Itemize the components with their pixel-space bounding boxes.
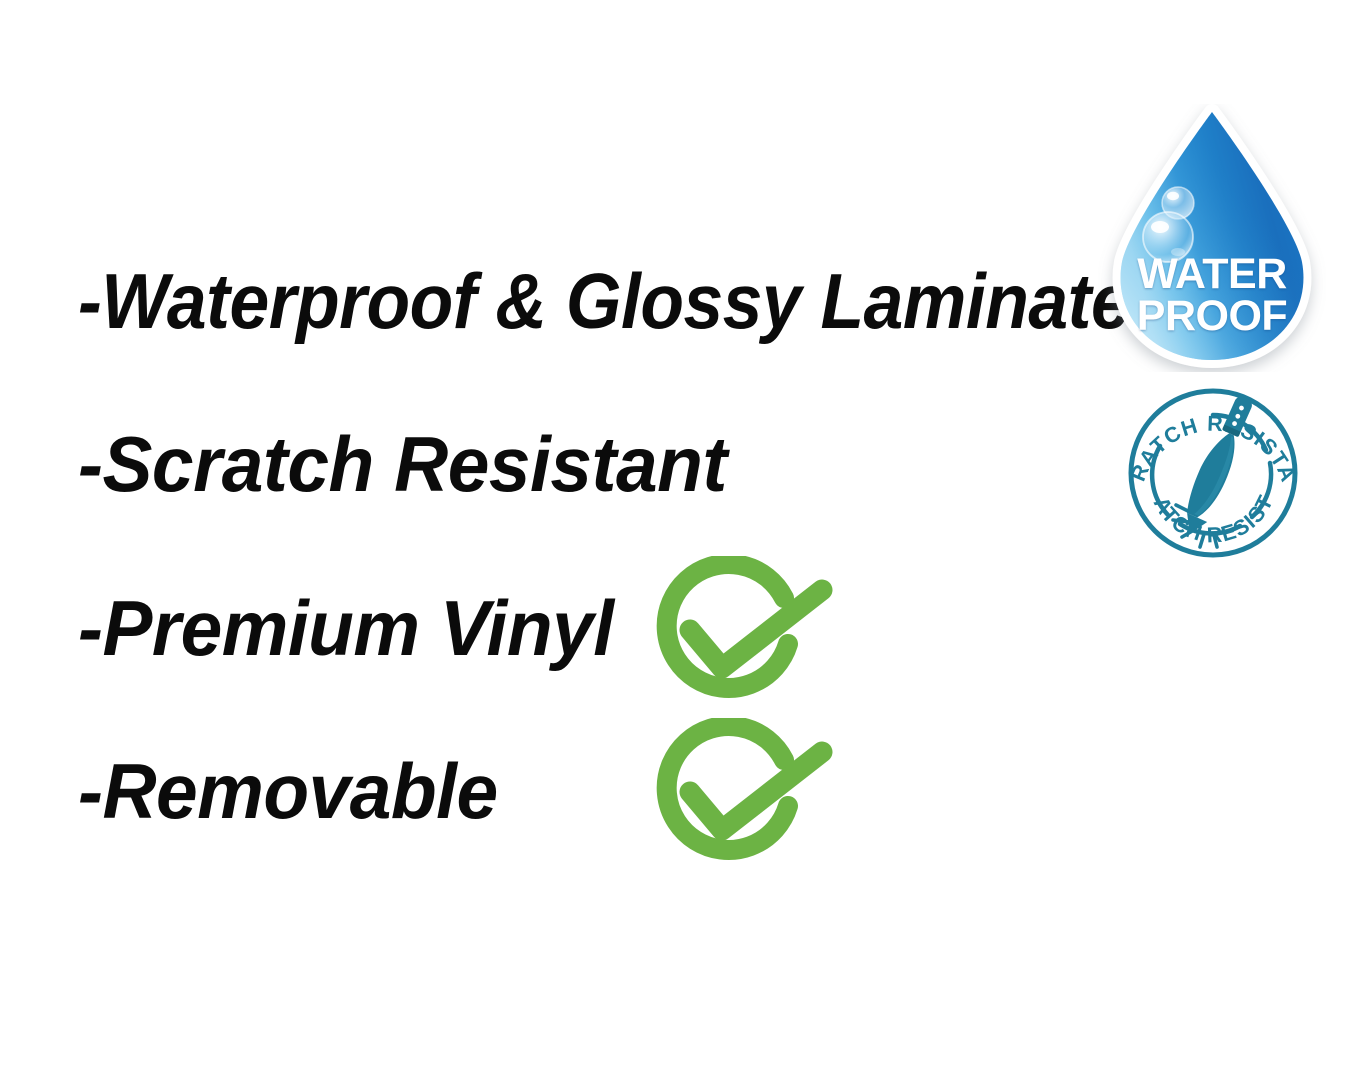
checkmark-premium-vinyl [636,556,836,708]
scratch-resistant-badge: SCRATCH RESISTANT SCRATCH RESISTANT [1118,384,1308,562]
knife-stamp-icon: SCRATCH RESISTANT SCRATCH RESISTANT [1118,384,1308,562]
circle-check-icon [636,718,836,870]
feature-item-removable: -Removable [78,752,498,830]
product-feature-graphic: -Waterproof & Glossy Laminated -Scratch … [0,0,1359,1080]
water-drop-icon [1098,104,1326,372]
circle-check-icon [636,556,836,708]
waterproof-badge: WATER PROOF [1098,104,1326,372]
feature-item-scratch-resistant: -Scratch Resistant [78,425,727,503]
check-tick [690,752,822,830]
feature-item-premium-vinyl: -Premium Vinyl [78,589,614,667]
check-tick [690,590,822,668]
checkmark-removable [636,718,836,870]
feature-item-waterproof-glossy-laminated: -Waterproof & Glossy Laminated [78,262,1173,340]
